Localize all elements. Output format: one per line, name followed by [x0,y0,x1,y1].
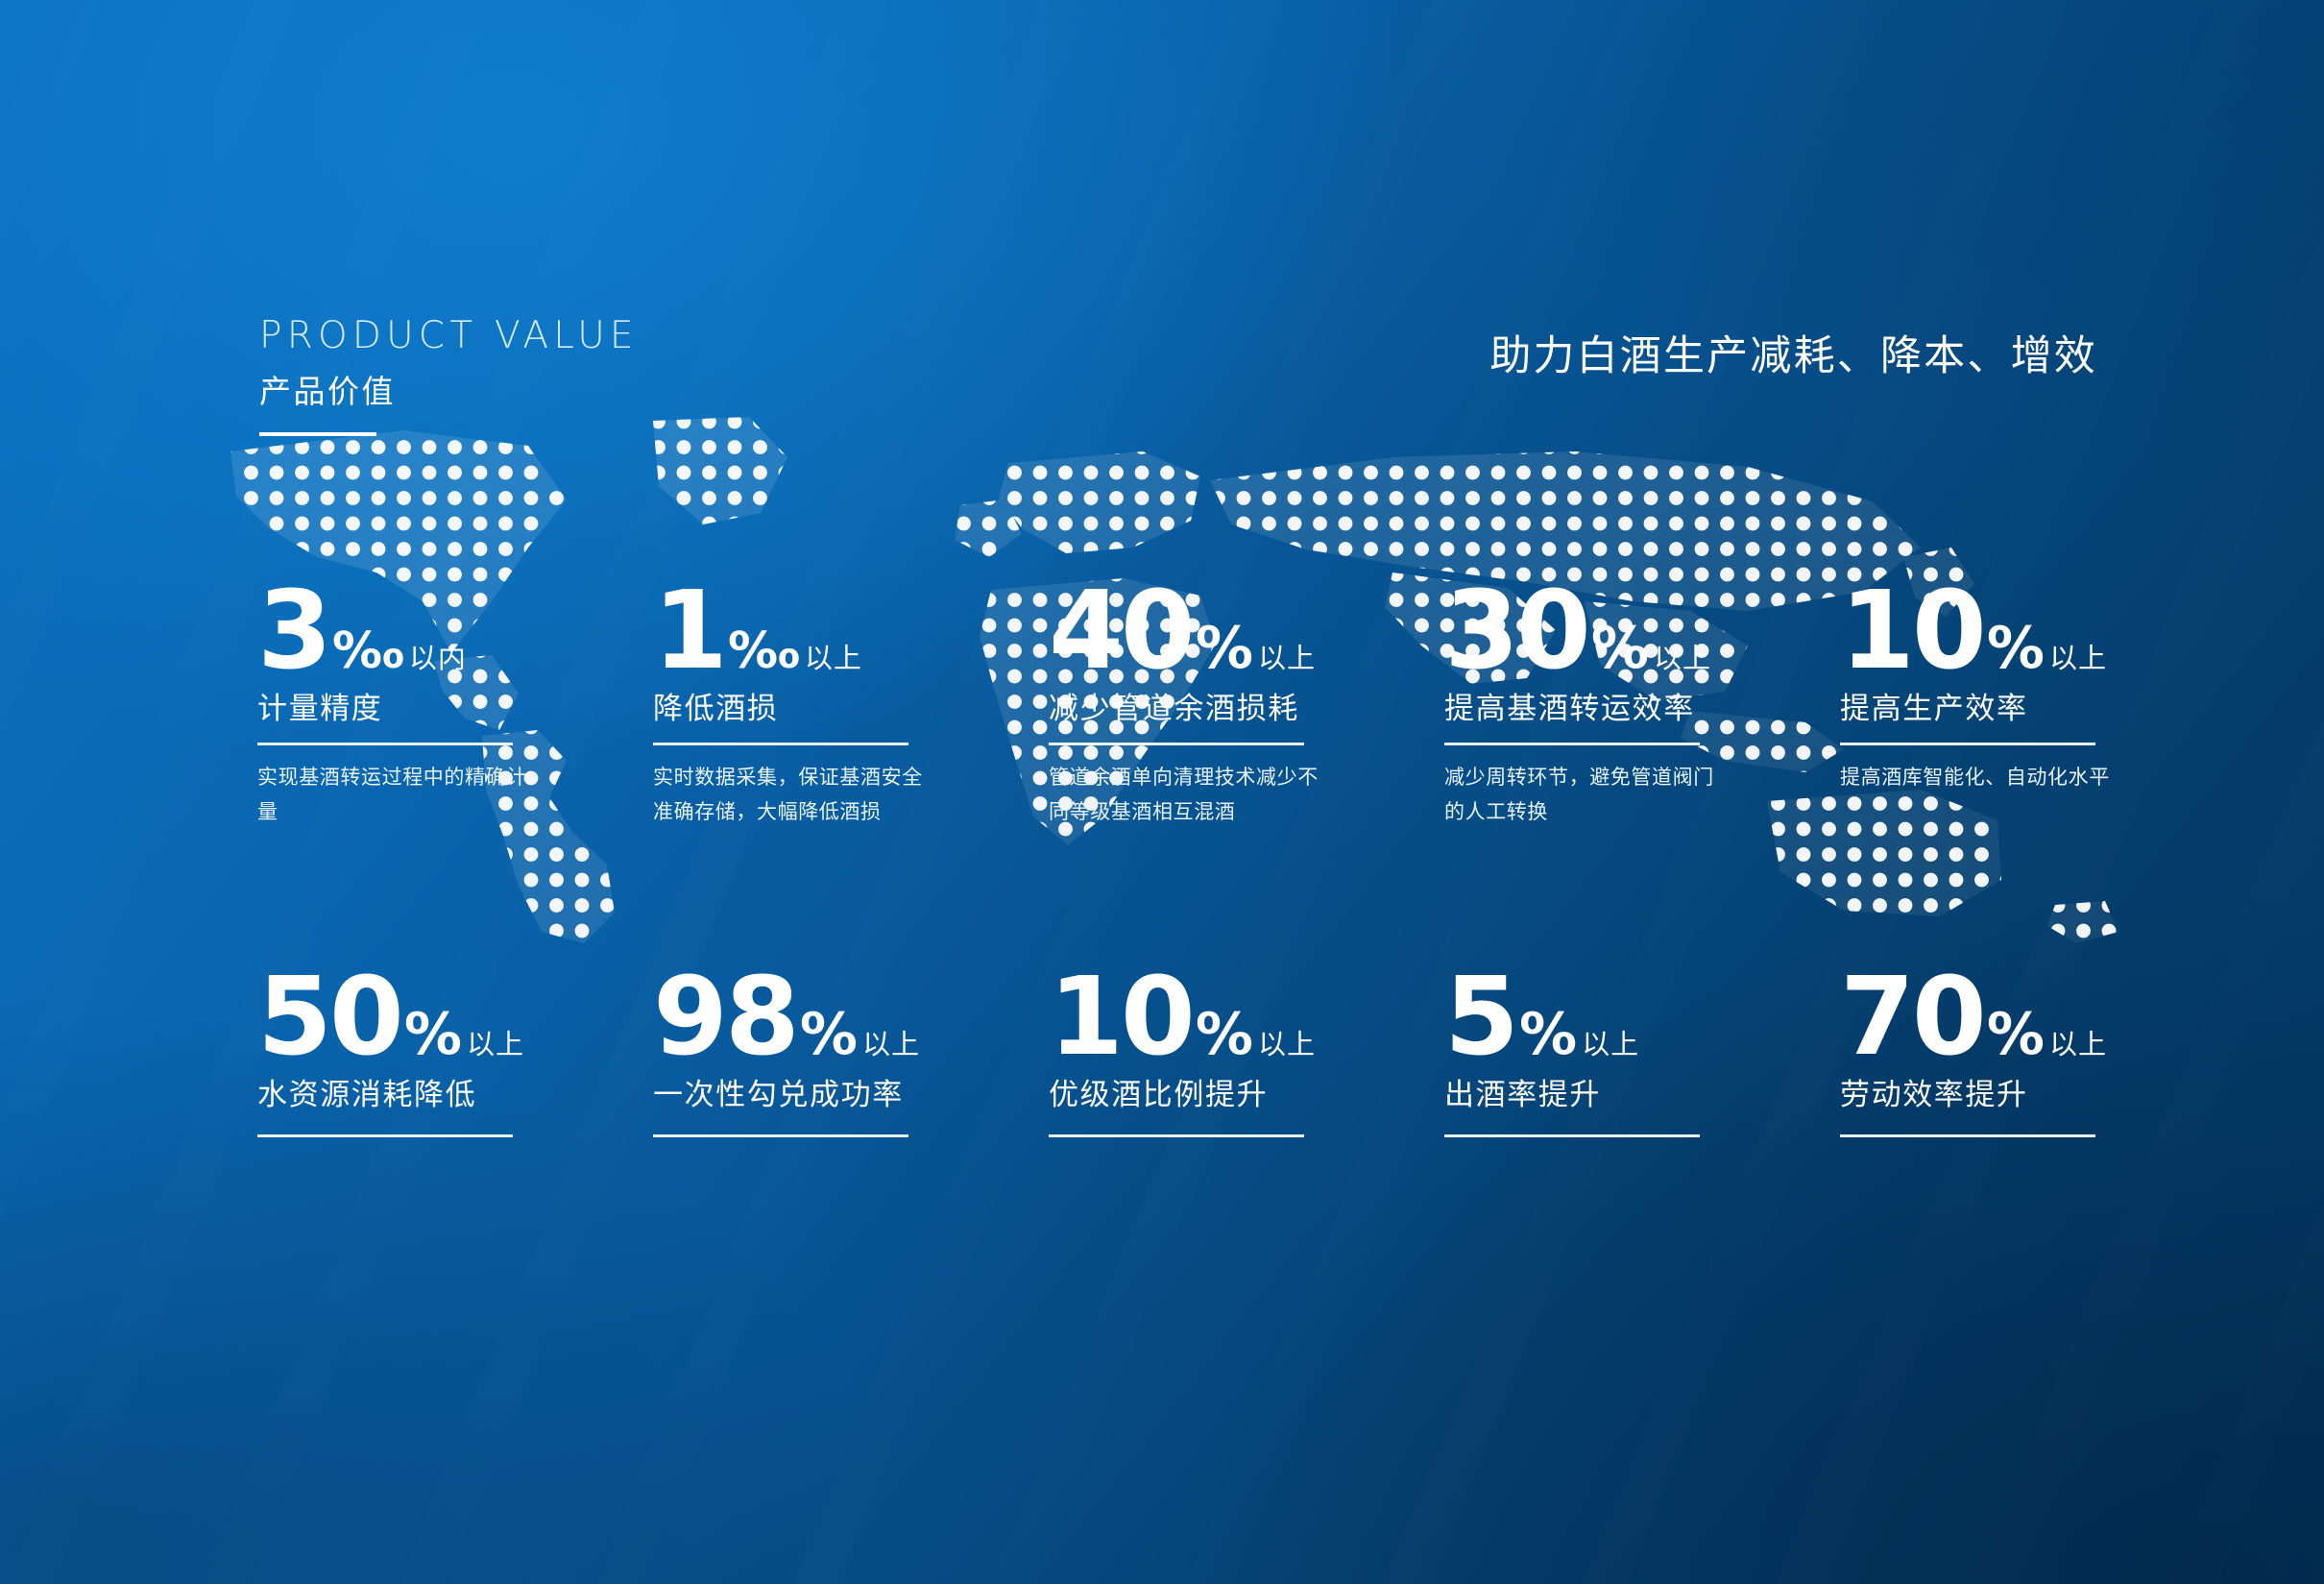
stat-unit-symbol: ‰ [332,626,403,676]
stat-qualifier: 以内 [409,646,467,673]
stat-unit-symbol: % [1987,620,2044,677]
stat-description: 实时数据采集，保证基酒安全准确存储，大幅降低酒损 [653,761,941,830]
stat-divider-rule [653,1134,908,1137]
stat-divider-rule [1444,1134,1700,1137]
stat-headline: 30%以上 [1444,584,1840,679]
stat-label: 水资源消耗降低 [257,1079,653,1111]
stat-unit-symbol: % [404,1006,461,1063]
stat-card: 98%以上一次性勾兑成功率 [653,970,1049,1137]
stat-number: 70 [1840,970,1984,1065]
stat-number: 30 [1444,584,1588,679]
stat-qualifier: 以上 [2049,646,2107,673]
stat-divider-rule [257,743,513,745]
stat-qualifier: 以上 [1258,1032,1316,1060]
stat-row-secondary: 50%以上水资源消耗降低98%以上一次性勾兑成功率10%以上优级酒比例提升5%以… [257,970,2236,1137]
stat-label: 一次性勾兑成功率 [653,1079,1049,1111]
stat-card: 10%以上提高生产效率提高酒库智能化、自动化水平 [1840,584,2236,830]
stat-qualifier: 以上 [1258,646,1316,673]
stat-number: 40 [1049,584,1193,679]
stat-headline: 70%以上 [1840,970,2236,1065]
stat-label: 劳动效率提升 [1840,1079,2236,1111]
stat-unit-symbol: % [1196,1006,1252,1063]
stat-row-primary: 3‰以内计量精度实现基酒转运过程中的精确计量1‰以上降低酒损实时数据采集，保证基… [257,584,2236,830]
stat-label: 优级酒比例提升 [1049,1079,1444,1111]
section-title-english: PRODUCT VALUE [259,317,639,354]
stat-description: 提高酒库智能化、自动化水平 [1840,761,2128,795]
stat-number: 10 [1049,970,1193,1065]
stat-card: 30%以上提高基酒转运效率减少周转环节，避免管道阀门的人工转换 [1444,584,1840,830]
stat-number: 50 [257,970,401,1065]
stat-card: 3‰以内计量精度实现基酒转运过程中的精确计量 [257,584,653,830]
stat-label: 提高基酒转运效率 [1444,693,1840,725]
stat-card: 10%以上优级酒比例提升 [1049,970,1444,1137]
stat-divider-rule [1049,1134,1304,1137]
stat-unit-symbol: % [1987,1006,2044,1063]
section-title-chinese: 产品价值 [259,376,639,407]
section-heading-block: PRODUCT VALUE 产品价值 [259,317,639,436]
stat-number: 5 [1444,970,1516,1065]
stat-divider-rule [1444,743,1700,745]
stat-divider-rule [257,1134,513,1137]
stat-headline: 5%以上 [1444,970,1840,1065]
stat-label: 计量精度 [257,693,653,725]
stat-description: 实现基酒转运过程中的精确计量 [257,761,545,830]
stat-headline: 10%以上 [1049,970,1444,1065]
stat-card: 40%以上减少管道余酒损耗管道余酒单向清理技术减少不同等级基酒相互混酒 [1049,584,1444,830]
stat-unit-symbol: % [1591,620,1648,677]
stat-unit-symbol: % [1196,620,1252,677]
stat-card: 70%以上劳动效率提升 [1840,970,2236,1137]
stat-qualifier: 以上 [862,1032,920,1060]
title-underline-rule [259,432,376,436]
stat-headline: 40%以上 [1049,584,1444,679]
stat-unit-symbol: % [800,1006,857,1063]
stat-headline: 98%以上 [653,970,1049,1065]
stat-card: 1‰以上降低酒损实时数据采集，保证基酒安全准确存储，大幅降低酒损 [653,584,1049,830]
stat-description: 减少周转环节，避免管道阀门的人工转换 [1444,761,1732,830]
stat-number: 98 [653,970,797,1065]
stat-headline: 10%以上 [1840,584,2236,679]
stat-divider-rule [1840,1134,2095,1137]
stat-number: 3 [257,584,329,679]
stat-label: 减少管道余酒损耗 [1049,693,1444,725]
stat-unit-symbol: % [1519,1006,1576,1063]
stat-headline: 3‰以内 [257,584,653,679]
stat-qualifier: 以上 [1654,646,1711,673]
stat-qualifier: 以上 [2049,1032,2107,1060]
stat-description: 管道余酒单向清理技术减少不同等级基酒相互混酒 [1049,761,1337,830]
stat-card: 5%以上出酒率提升 [1444,970,1840,1137]
stat-unit-symbol: ‰ [728,626,799,676]
stat-label: 提高生产效率 [1840,693,2236,725]
stat-card: 50%以上水资源消耗降低 [257,970,653,1137]
stat-headline: 1‰以上 [653,584,1049,679]
stat-number: 1 [653,584,725,679]
stat-headline: 50%以上 [257,970,653,1065]
section-tagline: 助力白酒生产减耗、降本、增效 [1489,323,2097,382]
stat-divider-rule [1049,743,1304,745]
stat-qualifier: 以上 [467,1032,524,1060]
stat-qualifier: 以上 [805,646,862,673]
stat-divider-rule [1840,743,2095,745]
stat-divider-rule [653,743,908,745]
stat-number: 10 [1840,584,1984,679]
stat-label: 出酒率提升 [1444,1079,1840,1111]
stat-label: 降低酒损 [653,693,1049,725]
stat-qualifier: 以上 [1582,1032,1639,1060]
